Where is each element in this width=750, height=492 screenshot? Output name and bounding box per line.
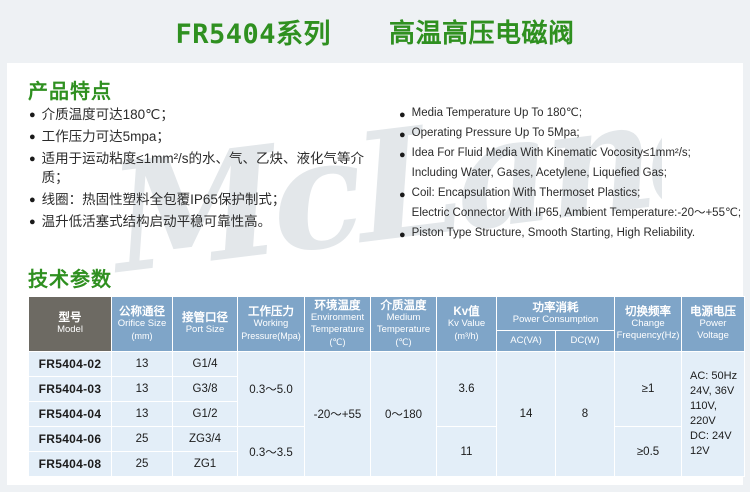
list-item: ● 温升低活塞式结构启动平稳可靠性高。 bbox=[29, 212, 389, 231]
list-item: ● 工作压力可达5mpa； bbox=[29, 127, 389, 146]
feature-text: 工作压力可达5mpa； bbox=[42, 127, 389, 146]
cell-orifice: 13 bbox=[112, 402, 173, 427]
cell-medium-temperature: 0～180 bbox=[371, 352, 437, 477]
feature-text: Coil: Encapsulation With Thermoset Plast… bbox=[412, 185, 744, 202]
feature-text: Media Temperature Up To 180℃; bbox=[412, 105, 744, 122]
th-et-cn: 环境温度 bbox=[306, 300, 369, 312]
th-wp-cn: 工作压力 bbox=[239, 306, 303, 318]
cell-orifice: 25 bbox=[112, 452, 173, 477]
th-orifice-unit: (mm) bbox=[113, 330, 171, 342]
th-mt-en: Medium bbox=[372, 312, 435, 324]
bullet-icon: ● bbox=[399, 185, 406, 201]
cell-change-freq-bottom: ≥0.5 bbox=[615, 427, 682, 477]
th-mt-cn: 介质温度 bbox=[372, 300, 435, 312]
table-header-row-1: 型号 Model 公称通径 Orifice Size (mm) 接管口径 Por… bbox=[29, 297, 745, 331]
page-banner: FR5404系列 高温高压电磁阀 bbox=[0, 0, 750, 63]
specs-table-body: FR5404-02 13 G1/4 0.3～5.0 -20～+55 0～180 … bbox=[29, 352, 745, 477]
bullet-icon: ● bbox=[29, 212, 36, 228]
th-cf-cn: 切换频率 bbox=[616, 306, 680, 318]
th-mt-en2: Temperature bbox=[372, 324, 435, 336]
bullet-icon: ● bbox=[399, 225, 406, 241]
th-working-pressure: 工作压力 Working Pressure(Mpa) bbox=[238, 297, 305, 352]
cell-model: FR5404-02 bbox=[29, 352, 112, 377]
th-model-en: Model bbox=[30, 324, 110, 336]
th-cf-unit: Frequency(Hz) bbox=[616, 330, 680, 342]
th-kv-cn: Kv值 bbox=[438, 306, 495, 318]
th-power-ac: AC(VA) bbox=[497, 331, 556, 352]
page-root: FR5404系列 高温高压电磁阀 McLand 产品特点 ● 介质温度可达180… bbox=[0, 0, 750, 492]
th-pc-en: Power Consumption bbox=[498, 314, 613, 326]
th-et-en: Environment bbox=[306, 312, 369, 324]
cell-kv-bottom: 11 bbox=[437, 427, 497, 477]
cell-port: ZG3/4 bbox=[173, 427, 238, 452]
th-port-cn: 接管口径 bbox=[174, 312, 236, 324]
cell-environment-temperature: -20～+55 bbox=[305, 352, 371, 477]
th-power-consumption: 功率消耗 Power Consumption bbox=[497, 297, 615, 331]
list-item: ● 线圈：热固性塑料全包覆IP65保护制式； bbox=[29, 190, 389, 209]
banner-model-title: FR5404系列 bbox=[175, 12, 331, 51]
th-ac-label: AC(VA) bbox=[498, 335, 554, 347]
cell-port: ZG1 bbox=[173, 452, 238, 477]
feature-text: 温升低活塞式结构启动平稳可靠性高。 bbox=[42, 212, 389, 231]
feature-text: 线圈：热固性塑料全包覆IP65保护制式； bbox=[42, 190, 389, 209]
list-item: ● 适用于运动粘度≤1mm²/s的水、气、乙炔、液化气等介质； bbox=[29, 149, 389, 187]
th-et-unit: (℃) bbox=[306, 336, 369, 348]
th-pv-en: Power Voltage bbox=[683, 318, 743, 342]
th-orifice-size: 公称通径 Orifice Size (mm) bbox=[112, 297, 173, 352]
content-panel: McLand 产品特点 ● 介质温度可达180℃； ● 工作压力可达5mpa； … bbox=[7, 63, 743, 485]
bullet-icon: ● bbox=[399, 145, 406, 161]
cell-port: G3/8 bbox=[173, 377, 238, 402]
list-item-continuation: ● Electric Connector With IP65, Ambient … bbox=[399, 205, 744, 222]
cell-power-voltage: AC: 50Hz 24V, 36V 110V, 220V DC: 24V 12V bbox=[682, 352, 745, 477]
bullet-icon: ● bbox=[399, 125, 406, 141]
specs-table-header: 型号 Model 公称通径 Orifice Size (mm) 接管口径 Por… bbox=[29, 297, 745, 352]
th-wp-en: Working bbox=[239, 318, 303, 330]
bullet-icon: ● bbox=[29, 127, 36, 143]
features-list-en: ● Media Temperature Up To 180℃; ● Operat… bbox=[399, 105, 744, 245]
cell-working-pressure-top: 0.3～5.0 bbox=[238, 352, 305, 427]
features-list-cn: ● 介质温度可达180℃； ● 工作压力可达5mpa； ● 适用于运动粘度≤1m… bbox=[29, 105, 389, 234]
feature-text: 介质温度可达180℃； bbox=[42, 105, 389, 124]
feature-text: Piston Type Structure, Smooth Starting, … bbox=[412, 225, 744, 242]
cell-power-dc: 8 bbox=[556, 352, 615, 477]
cell-orifice: 25 bbox=[112, 427, 173, 452]
bullet-icon: ● bbox=[29, 190, 36, 206]
th-medium-temperature: 介质温度 Medium Temperature (℃) bbox=[371, 297, 437, 352]
cell-model: FR5404-08 bbox=[29, 452, 112, 477]
th-power-dc: DC(W) bbox=[556, 331, 615, 352]
cell-power-ac: 14 bbox=[497, 352, 556, 477]
th-change-frequency: 切换频率 Change Frequency(Hz) bbox=[615, 297, 682, 352]
th-mt-unit: (℃) bbox=[372, 336, 435, 348]
feature-text: Operating Pressure Up To 5Mpa; bbox=[412, 125, 744, 142]
th-model: 型号 Model bbox=[29, 297, 112, 352]
th-orifice-cn: 公称通径 bbox=[113, 306, 171, 318]
th-kv-unit: (m³/h) bbox=[438, 330, 495, 342]
th-model-cn: 型号 bbox=[30, 312, 110, 324]
list-item: ● 介质温度可达180℃； bbox=[29, 105, 389, 124]
cell-port: G1/4 bbox=[173, 352, 238, 377]
th-power-voltage: 电源电压 Power Voltage bbox=[682, 297, 745, 352]
cell-change-freq-top: ≥1 bbox=[615, 352, 682, 427]
cell-orifice: 13 bbox=[112, 352, 173, 377]
feature-text: Electric Connector With IP65, Ambient Te… bbox=[412, 205, 744, 222]
th-pc-cn: 功率消耗 bbox=[498, 302, 613, 314]
list-item-continuation: ● Including Water, Gases, Acetylene, Liq… bbox=[399, 165, 744, 182]
bullet-icon: ● bbox=[29, 149, 36, 165]
th-dc-label: DC(W) bbox=[557, 335, 613, 347]
th-orifice-en: Orifice Size bbox=[113, 318, 171, 330]
cell-model: FR5404-04 bbox=[29, 402, 112, 427]
th-environment-temperature: 环境温度 Environment Temperature (℃) bbox=[305, 297, 371, 352]
features-heading: 产品特点 bbox=[28, 75, 112, 104]
list-item: ● Media Temperature Up To 180℃; bbox=[399, 105, 744, 122]
th-kv-en: Kv Value bbox=[438, 318, 495, 330]
th-port-size: 接管口径 Port Size bbox=[173, 297, 238, 352]
th-kv-value: Kv值 Kv Value (m³/h) bbox=[437, 297, 497, 352]
cell-model: FR5404-06 bbox=[29, 427, 112, 452]
th-cf-en: Change bbox=[616, 318, 680, 330]
cell-port: G1/2 bbox=[173, 402, 238, 427]
bullet-icon: ● bbox=[399, 105, 406, 121]
list-item: ● Piston Type Structure, Smooth Starting… bbox=[399, 225, 744, 242]
cell-orifice: 13 bbox=[112, 377, 173, 402]
feature-text: Idea For Fluid Media With Kinematic Voco… bbox=[412, 145, 744, 162]
th-wp-unit: Pressure(Mpa) bbox=[239, 330, 303, 342]
feature-text: 适用于运动粘度≤1mm²/s的水、气、乙炔、液化气等介质； bbox=[42, 149, 389, 187]
th-pv-cn: 电源电压 bbox=[683, 306, 743, 318]
table-row: FR5404-02 13 G1/4 0.3～5.0 -20～+55 0～180 … bbox=[29, 352, 745, 377]
list-item: ● Operating Pressure Up To 5Mpa; bbox=[399, 125, 744, 142]
bullet-icon: ● bbox=[29, 105, 36, 121]
feature-text: Including Water, Gases, Acetylene, Lique… bbox=[412, 165, 744, 182]
cell-kv-top: 3.6 bbox=[437, 352, 497, 427]
th-port-en: Port Size bbox=[174, 324, 236, 336]
list-item: ● Idea For Fluid Media With Kinematic Vo… bbox=[399, 145, 744, 162]
cell-model: FR5404-03 bbox=[29, 377, 112, 402]
list-item: ● Coil: Encapsulation With Thermoset Pla… bbox=[399, 185, 744, 202]
banner-product-title: 高温高压电磁阀 bbox=[389, 13, 575, 50]
specs-table: 型号 Model 公称通径 Orifice Size (mm) 接管口径 Por… bbox=[28, 296, 745, 477]
th-et-en2: Temperature bbox=[306, 324, 369, 336]
specs-heading: 技术参数 bbox=[28, 263, 112, 292]
cell-working-pressure-bottom: 0.3～3.5 bbox=[238, 427, 305, 477]
